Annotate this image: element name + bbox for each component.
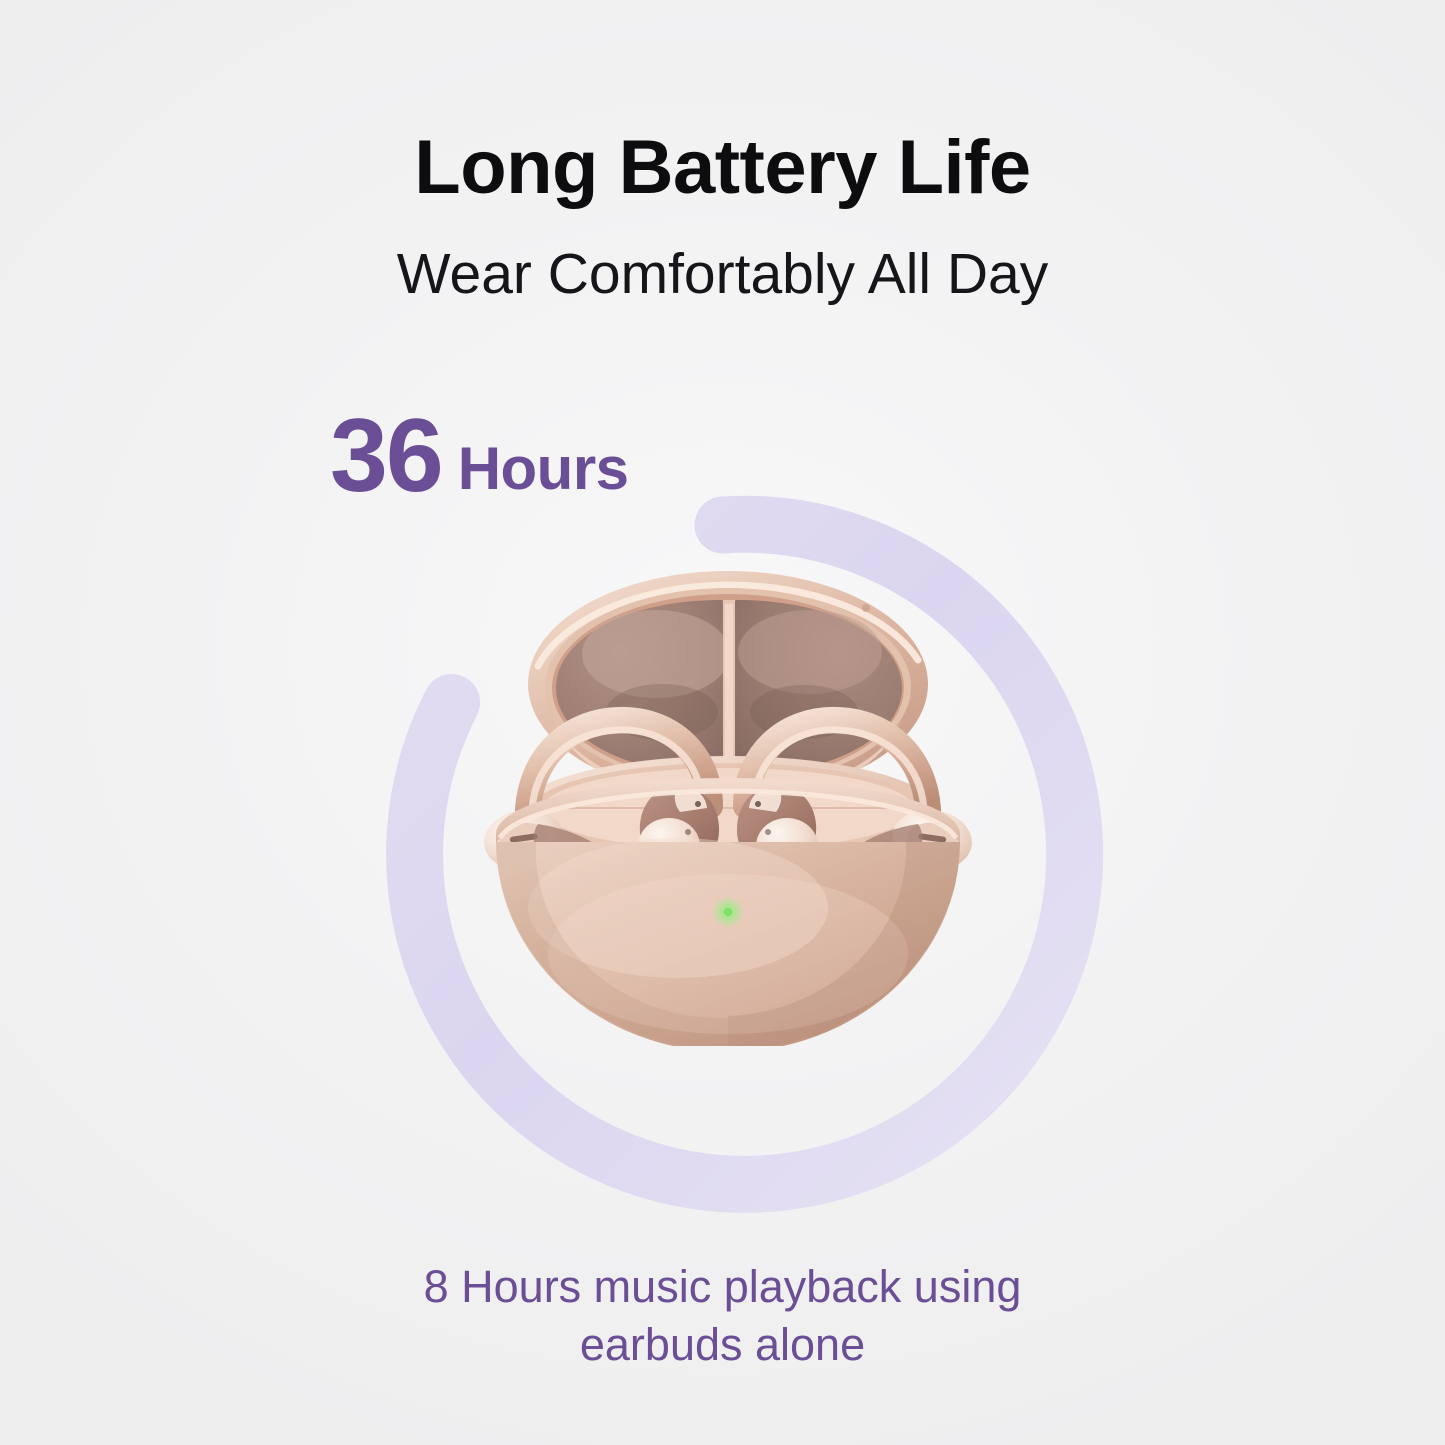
page-subtitle: Wear Comfortably All Day: [0, 243, 1445, 306]
battery-hours-unit: Hours: [458, 439, 629, 499]
battery-caption-line-1: 8 Hours music playback using: [333, 1258, 1113, 1316]
page-title: Long Battery Life: [0, 128, 1445, 208]
battery-caption-line-2: earbuds alone: [333, 1316, 1113, 1374]
product-image-earbuds-case: [466, 556, 986, 1046]
product-feature-card: Long Battery Life Wear Comfortably All D…: [0, 0, 1445, 1445]
battery-caption: 8 Hours music playback using earbuds alo…: [333, 1258, 1113, 1373]
battery-hours-number: 36: [330, 404, 442, 508]
battery-life-value: 36 Hours: [330, 404, 629, 508]
charging-led: [724, 908, 732, 916]
